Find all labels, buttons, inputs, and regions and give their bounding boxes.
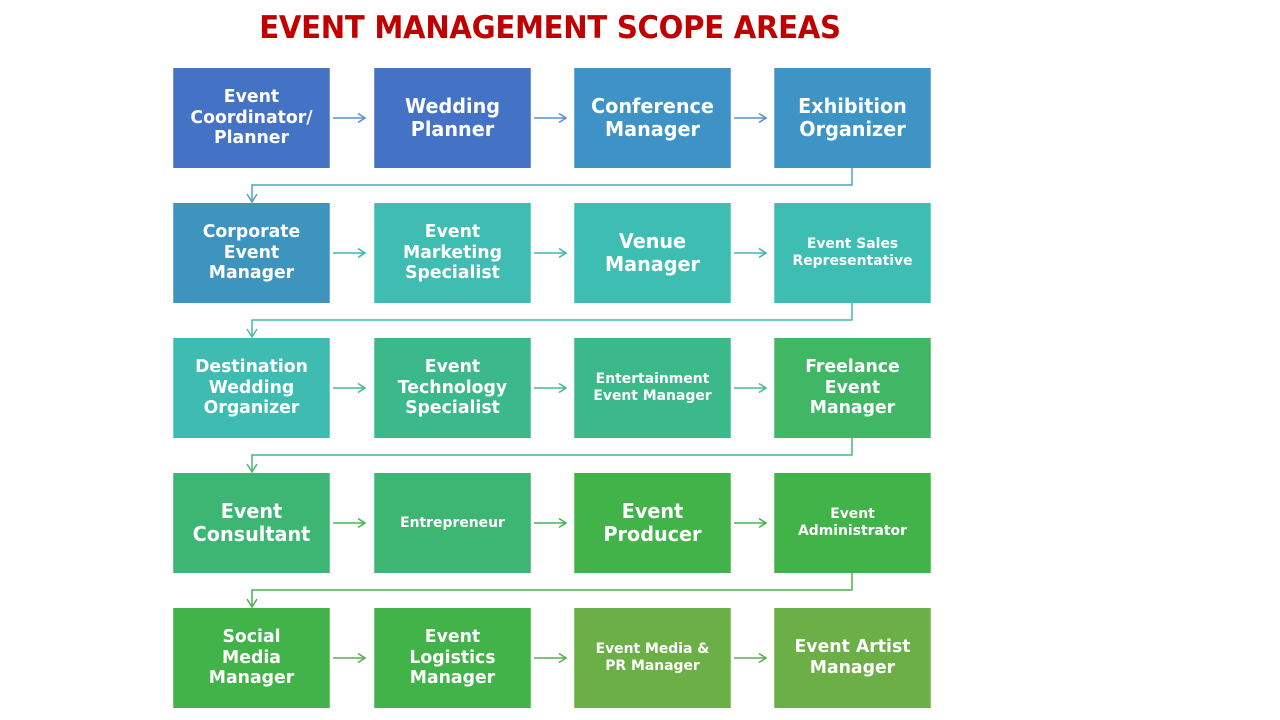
flow-node-label: Destination Wedding Organizer: [195, 357, 308, 420]
flow-node[interactable]: Entertainment Event Manager: [574, 338, 730, 438]
flow-node[interactable]: Event Sales Representative: [774, 203, 930, 303]
flow-node[interactable]: Event Consultant: [173, 473, 329, 573]
flow-node-label: Event Producer: [603, 500, 701, 546]
arrow-right-icon: [534, 517, 572, 529]
flow-node-label: Social Media Manager: [209, 627, 294, 690]
page-title: EVENT MANAGEMENT SCOPE AREAS: [33, 10, 1067, 46]
arrow-right-icon: [734, 247, 772, 259]
flow-row: Corporate Event ManagerEvent Marketing S…: [0, 203, 1280, 303]
flow-node[interactable]: Event Administrator: [774, 473, 930, 573]
flow-node-label: Event Media & PR Manager: [596, 641, 710, 675]
flow-node-label: Exhibition Organizer: [798, 95, 907, 141]
arrow-right-icon: [333, 382, 371, 394]
flow-node[interactable]: Freelance Event Manager: [774, 338, 930, 438]
flow-node-label: Event Sales Representative: [792, 236, 912, 270]
diagram-canvas: EVENT MANAGEMENT SCOPE AREAS Event Coord…: [0, 0, 1280, 720]
flow-node[interactable]: Event Media & PR Manager: [574, 608, 730, 708]
flow-node-label: Freelance Event Manager: [805, 357, 900, 420]
flow-node[interactable]: Event Marketing Specialist: [374, 203, 530, 303]
flow-row: Destination Wedding OrganizerEvent Techn…: [0, 338, 1280, 438]
wrap-connector-arrow-icon: [0, 168, 1280, 208]
flow-node-label: Conference Manager: [591, 95, 714, 141]
flow-node-label: Wedding Planner: [405, 95, 500, 141]
arrow-right-icon: [333, 112, 371, 124]
arrow-right-icon: [333, 247, 371, 259]
arrow-right-icon: [333, 517, 371, 529]
flow-node[interactable]: Corporate Event Manager: [173, 203, 329, 303]
flow-node[interactable]: Event Technology Specialist: [374, 338, 530, 438]
flow-row: Event Coordinator/ PlannerWedding Planne…: [0, 68, 1280, 168]
arrow-right-icon: [534, 652, 572, 664]
flow-node-label: Event Marketing Specialist: [403, 222, 502, 285]
flow-node[interactable]: Social Media Manager: [173, 608, 329, 708]
flow-node[interactable]: Exhibition Organizer: [774, 68, 930, 168]
flow-node[interactable]: Destination Wedding Organizer: [173, 338, 329, 438]
arrow-right-icon: [534, 382, 572, 394]
flow-node[interactable]: Conference Manager: [574, 68, 730, 168]
flow-node-label: Entrepreneur: [400, 515, 505, 532]
arrow-right-icon: [734, 517, 772, 529]
flow-node[interactable]: Entrepreneur: [374, 473, 530, 573]
arrow-right-icon: [734, 382, 772, 394]
flow-node[interactable]: Venue Manager: [574, 203, 730, 303]
wrap-connector-arrow-icon: [0, 573, 1280, 613]
arrow-right-icon: [734, 112, 772, 124]
arrow-right-icon: [534, 247, 572, 259]
wrap-connector-arrow-icon: [0, 303, 1280, 343]
flow-node[interactable]: Event Artist Manager: [774, 608, 930, 708]
flow-node-label: Event Logistics Manager: [409, 627, 495, 690]
flow-node[interactable]: Event Logistics Manager: [374, 608, 530, 708]
flow-node-label: Event Consultant: [193, 500, 311, 546]
flow-node-label: Event Coordinator/ Planner: [190, 87, 312, 150]
arrow-right-icon: [534, 112, 572, 124]
arrow-right-icon: [734, 652, 772, 664]
flow-node-label: Event Administrator: [798, 506, 907, 540]
flow-node-label: Event Technology Specialist: [398, 357, 507, 420]
flow-node-label: Event Artist Manager: [794, 637, 910, 679]
flow-row: Social Media ManagerEvent Logistics Mana…: [0, 608, 1280, 708]
flow-node-label: Venue Manager: [605, 230, 700, 276]
arrow-right-icon: [333, 652, 371, 664]
flow-node-label: Corporate Event Manager: [203, 222, 300, 285]
flow-node[interactable]: Event Producer: [574, 473, 730, 573]
flow-node-label: Entertainment Event Manager: [593, 371, 711, 405]
flow-node[interactable]: Event Coordinator/ Planner: [173, 68, 329, 168]
flow-row: Event ConsultantEntrepreneurEvent Produc…: [0, 473, 1280, 573]
flow-node[interactable]: Wedding Planner: [374, 68, 530, 168]
wrap-connector-arrow-icon: [0, 438, 1280, 478]
